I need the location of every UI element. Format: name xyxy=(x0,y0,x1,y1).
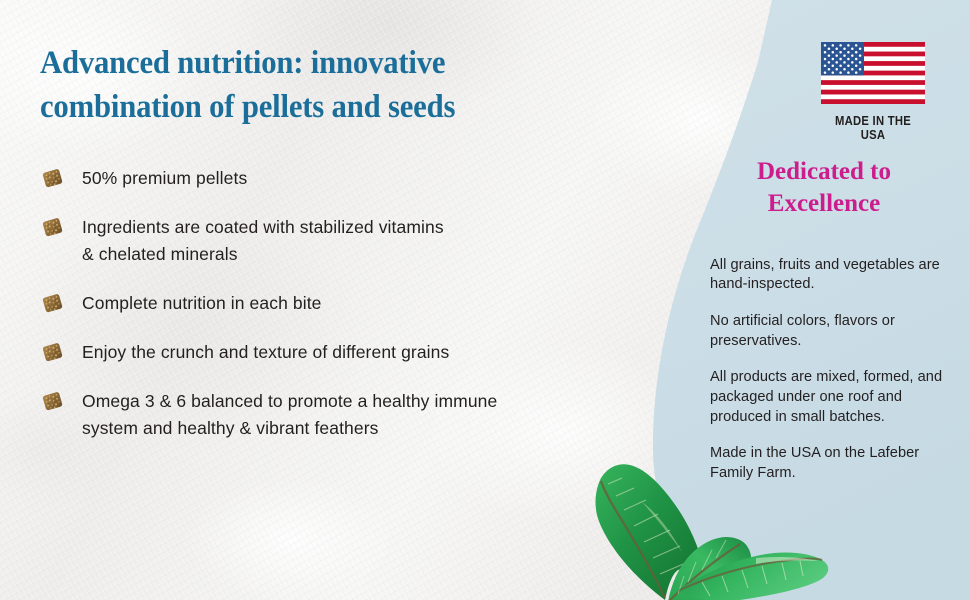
bullet-line-1: Enjoy the crunch and texture of differen… xyxy=(82,342,449,362)
list-item: Ingredients are coated with stabilized v… xyxy=(40,214,620,267)
section-title-line-1: Dedicated to xyxy=(757,158,891,185)
quality-claims-list: All grains, fruits and vegetables are ha… xyxy=(710,241,954,484)
headline-line-2: combination of pellets and seeds xyxy=(40,86,561,130)
list-item-text: Ingredients are coated with stabilized v… xyxy=(82,214,444,267)
usa-flag-icon xyxy=(821,91,925,108)
pellet-icon xyxy=(40,166,66,190)
bullet-line-1: Omega 3 & 6 balanced to promote a health… xyxy=(82,391,497,411)
list-item-text: 50% premium pellets xyxy=(82,165,247,191)
list-item: Complete nutrition in each bite xyxy=(40,290,620,316)
bullet-line-2: system and healthy & vibrant feathers xyxy=(82,418,379,438)
list-item: 50% premium pellets xyxy=(40,165,620,191)
claim-paragraph: No artificial colors, flavors or preserv… xyxy=(710,312,954,351)
right-content-column: MADE IN THE USA Dedicated to Excellence … xyxy=(700,0,955,600)
list-item-text: Complete nutrition in each bite xyxy=(82,290,322,316)
pellet-icon xyxy=(40,340,66,364)
left-content-column: Advanced nutrition: innovative combinati… xyxy=(0,0,640,600)
claim-paragraph: Made in the USA on the Lafeber Family Fa… xyxy=(710,444,954,483)
pellet-icon xyxy=(40,215,66,239)
list-item: Enjoy the crunch and texture of differen… xyxy=(40,339,620,365)
claim-paragraph: All grains, fruits and vegetables are ha… xyxy=(710,256,954,295)
list-item: Omega 3 & 6 balanced to promote a health… xyxy=(40,388,620,441)
bullet-line-1: Complete nutrition in each bite xyxy=(82,293,322,313)
bullet-line-2: & chelated minerals xyxy=(82,244,238,264)
made-in-usa-badge: MADE IN THE USA xyxy=(820,42,926,142)
page-title: Advanced nutrition: innovative combinati… xyxy=(40,42,561,129)
section-title-line-2: Excellence xyxy=(700,188,948,220)
claim-paragraph: All products are mixed, formed, and pack… xyxy=(710,368,954,427)
bullet-line-1: 50% premium pellets xyxy=(82,168,247,188)
bullet-line-1: Ingredients are coated with stabilized v… xyxy=(82,217,444,237)
feature-bullet-list: 50% premium pellets xyxy=(40,165,620,464)
list-item-text: Enjoy the crunch and texture of differen… xyxy=(82,339,449,365)
pellet-icon xyxy=(40,389,66,413)
pellet-icon xyxy=(40,291,66,315)
badge-caption: MADE IN THE USA xyxy=(825,114,920,142)
promo-banner: Advanced nutrition: innovative combinati… xyxy=(0,0,970,600)
list-item-text: Omega 3 & 6 balanced to promote a health… xyxy=(82,388,497,441)
section-title: Dedicated to Excellence xyxy=(700,156,948,220)
headline-line-1: Advanced nutrition: innovative xyxy=(40,45,445,81)
